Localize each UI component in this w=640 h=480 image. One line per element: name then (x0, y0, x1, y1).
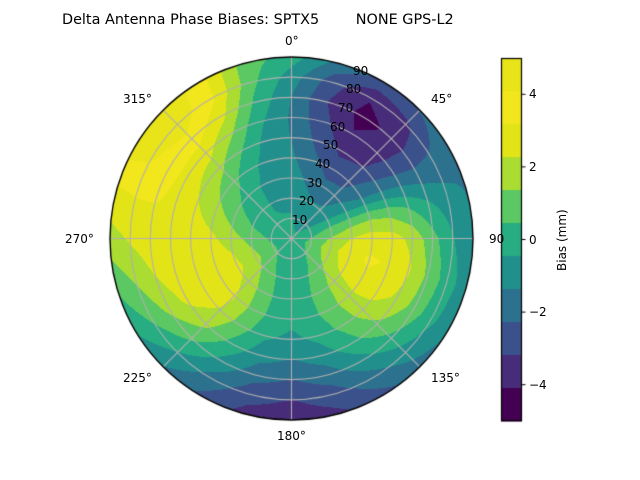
radial-label-10: 10 (292, 214, 307, 226)
azimuth-label-0: 0° (285, 35, 299, 47)
colorbar-axis-label: Bias (mm) (556, 209, 568, 271)
azimuth-label-315: 315° (123, 93, 152, 105)
colorbar-tick-neg4: −4 (529, 379, 547, 391)
azimuth-label-225: 225° (123, 372, 152, 384)
colorbar-tick-2: 2 (529, 161, 537, 173)
azimuth-label-135: 135° (431, 372, 460, 384)
page-title: Delta Antenna Phase Biases: SPTX5 NONE G… (62, 13, 454, 27)
colorbar-tick-0: 0 (529, 234, 537, 246)
azimuth-label-90: 90 (489, 233, 504, 245)
colorbar-tick-neg2: −2 (529, 306, 547, 318)
radial-label-80: 80 (346, 83, 361, 95)
azimuth-label-180: 180° (277, 430, 306, 442)
figure-canvas: Delta Antenna Phase Biases: SPTX5 NONE G… (0, 0, 640, 480)
polar-contour-plot[interactable] (0, 0, 640, 480)
radial-label-30: 30 (307, 177, 322, 189)
radial-label-20: 20 (299, 195, 314, 207)
radial-label-60: 60 (330, 121, 345, 133)
radial-label-50: 50 (323, 139, 338, 151)
azimuth-label-270: 270° (65, 233, 94, 245)
radial-label-70: 70 (338, 102, 353, 114)
azimuth-label-45: 45° (431, 93, 452, 105)
radial-label-90: 90 (353, 65, 368, 77)
radial-label-40: 40 (315, 158, 330, 170)
colorbar-tick-4: 4 (529, 88, 537, 100)
